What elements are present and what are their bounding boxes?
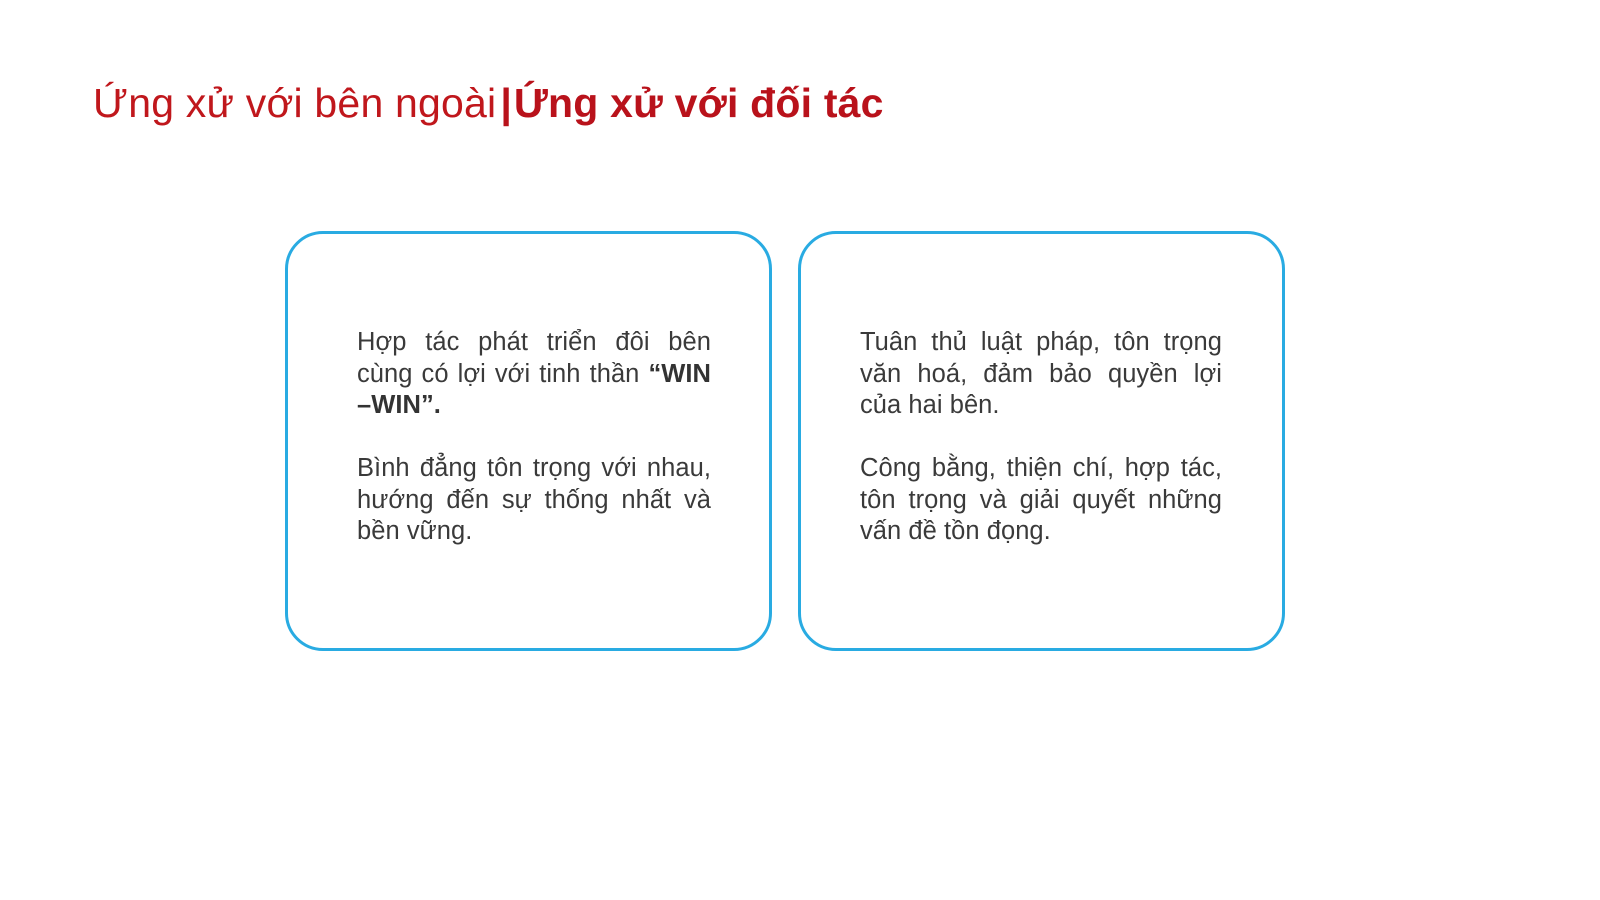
card-left-paragraph-2: Bình đẳng tôn trọng với nhau, hướng đến …: [357, 453, 711, 548]
card-right-paragraph-1-lead: Tuân thủ luật pháp, tôn trọng văn hoá, đ…: [860, 328, 1222, 419]
card-right-paragraph-2: Công bằng, thiện chí, hợp tác, tôn trọng…: [860, 453, 1222, 548]
card-right-paragraph-1: Tuân thủ luật pháp, tôn trọng văn hoá, đ…: [860, 327, 1222, 422]
content-card-compliance: Tuân thủ luật pháp, tôn trọng văn hoá, đ…: [798, 231, 1285, 651]
content-card-cooperation: Hợp tác phát triển đôi bên cùng có lợi v…: [285, 231, 772, 651]
card-right-paragraph-2-lead: Công bằng, thiện chí, hợp tác, tôn trọng…: [860, 454, 1222, 545]
card-body-left: Hợp tác phát triển đôi bên cùng có lợi v…: [288, 327, 769, 548]
page-title-bold-part: Ứng xử với đối tác: [514, 80, 884, 126]
slide-canvas: Ứng xử với bên ngoài|Ứng xử với đối tác …: [0, 0, 1600, 900]
card-left-paragraph-1: Hợp tác phát triển đôi bên cùng có lợi v…: [357, 327, 711, 422]
page-title: Ứng xử với bên ngoài|Ứng xử với đối tác: [93, 83, 884, 124]
card-left-paragraph-2-lead: Bình đẳng tôn trọng với nhau, hướng đến …: [357, 454, 711, 545]
page-title-light-part: Ứng xử với bên ngoài: [93, 80, 496, 126]
page-title-separator: |: [496, 80, 513, 126]
card-body-right: Tuân thủ luật pháp, tôn trọng văn hoá, đ…: [801, 327, 1282, 548]
